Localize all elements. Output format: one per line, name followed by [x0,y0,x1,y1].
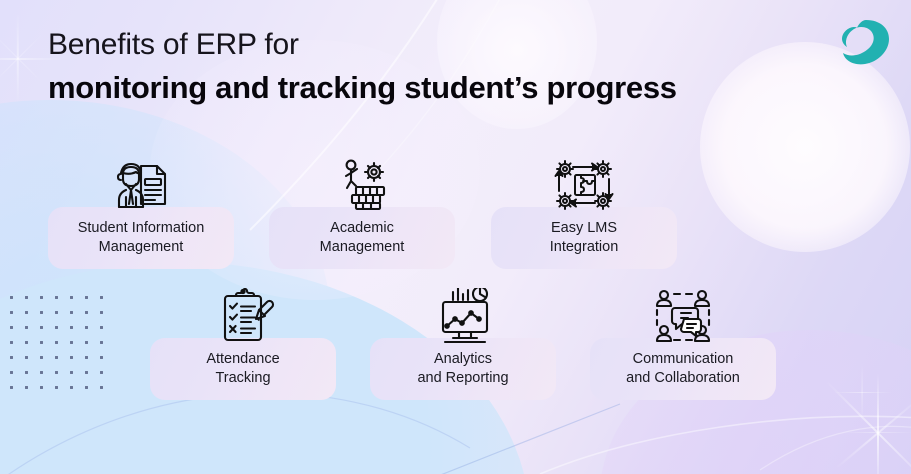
sparkle-top-left [18,58,20,60]
card-label: AcademicManagement [269,219,455,257]
people-chat-network-icon [651,288,715,344]
page-title: Benefits of ERP for monitoring and track… [48,26,848,108]
sparkle-bottom-right [878,432,880,434]
gears-puzzle-cycle-icon [552,157,616,213]
card-label: Communicationand Collaboration [590,350,776,388]
card-label: Student InformationManagement [48,219,234,257]
card-label: AttendanceTracking [150,350,336,388]
monitor-charts-icon [431,288,495,344]
card-surface: Communicationand Collaboration [590,338,776,400]
infographic-canvas: Benefits of ERP for monitoring and track… [0,0,911,474]
brand-logo-icon [836,18,890,66]
card-surface: Student InformationManagement [48,207,234,269]
card-surface: Easy LMSIntegration [491,207,677,269]
card-surface: AcademicManagement [269,207,455,269]
card-surface: Analyticsand Reporting [370,338,556,400]
card-label: Easy LMSIntegration [491,219,677,257]
title-line-1: Benefits of ERP for [48,26,848,64]
card-label: Analyticsand Reporting [370,350,556,388]
person-books-gear-icon [330,157,394,213]
person-document-icon [109,157,173,213]
card-surface: AttendanceTracking [150,338,336,400]
title-line-2: monitoring and tracking student’s progre… [48,68,848,108]
clipboard-checklist-pencil-icon [211,288,275,344]
sparkle-bottom-right-small [862,392,864,394]
brand-logo [836,18,890,66]
